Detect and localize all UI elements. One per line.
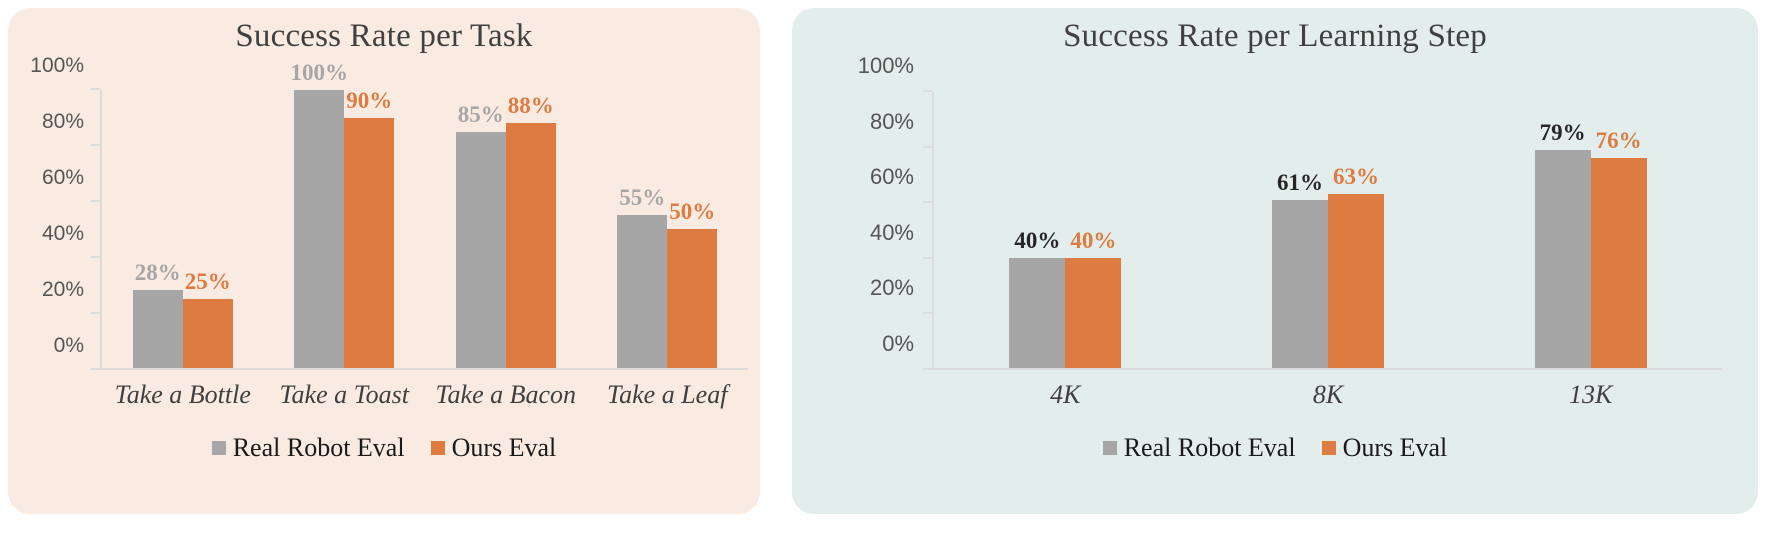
y-axis-tick bbox=[923, 312, 932, 314]
page-title: Success Rate per Task bbox=[8, 18, 760, 55]
bar-value-label: 40% bbox=[1070, 228, 1116, 254]
bar-pair: 40%40% bbox=[1009, 92, 1121, 368]
bar-value-label: 85% bbox=[458, 102, 504, 128]
y-axis-tick bbox=[923, 146, 932, 148]
x-axis-category-label: Take a Bacon bbox=[425, 380, 587, 410]
y-axis-tick-label: 40% bbox=[42, 222, 84, 246]
bar-real-robot-eval[interactable]: 55% bbox=[617, 215, 667, 368]
bar-value-label: 28% bbox=[135, 260, 181, 286]
x-axis-category-label: Take a Toast bbox=[264, 380, 426, 410]
bar-group: 79%76% bbox=[1459, 92, 1722, 368]
chart-panel-task: Success Rate per Task 0%20%40%60%80%100%… bbox=[8, 8, 760, 514]
x-axis-category-labels: 4K8K13K bbox=[934, 380, 1722, 410]
y-axis-tick-label: 80% bbox=[42, 110, 84, 134]
legend-label: Ours Eval bbox=[1343, 433, 1448, 463]
bar-pair: 85%88% bbox=[456, 90, 556, 368]
legend-swatch-icon bbox=[431, 441, 445, 455]
legend: Real Robot Eval Ours Eval bbox=[8, 433, 760, 463]
bar-ours-eval[interactable]: 76% bbox=[1591, 158, 1647, 368]
x-axis-category-label: Take a Leaf bbox=[587, 380, 749, 410]
y-axis-tick-label: 80% bbox=[870, 109, 914, 135]
x-axis-category-label: 8K bbox=[1197, 380, 1460, 410]
y-axis-tick-label: 60% bbox=[870, 164, 914, 190]
y-axis-tick bbox=[91, 200, 100, 202]
figure-root: Success Rate per Task 0%20%40%60%80%100%… bbox=[0, 0, 1774, 550]
legend: Real Robot Eval Ours Eval bbox=[792, 433, 1758, 463]
bar-ours-eval[interactable]: 88% bbox=[506, 123, 556, 368]
y-axis-tick-label: 0% bbox=[882, 331, 914, 357]
y-axis-tick bbox=[923, 257, 932, 259]
bar-value-label: 55% bbox=[619, 185, 665, 211]
y-axis-tick-label: 20% bbox=[870, 275, 914, 301]
bar-value-label: 50% bbox=[669, 199, 715, 225]
bar-value-label: 76% bbox=[1596, 128, 1642, 154]
bar-value-label: 40% bbox=[1014, 228, 1060, 254]
bar-group: 100%90% bbox=[264, 90, 426, 368]
bar-group: 85%88% bbox=[425, 90, 587, 368]
bar-pair: 100%90% bbox=[294, 90, 394, 368]
y-axis-tick bbox=[91, 256, 100, 258]
bar-value-label: 100% bbox=[291, 60, 349, 86]
bar-pair: 28%25% bbox=[133, 90, 233, 368]
legend-label: Real Robot Eval bbox=[233, 433, 405, 463]
bar-real-robot-eval[interactable]: 79% bbox=[1535, 150, 1591, 368]
bar-group: 61%63% bbox=[1197, 92, 1460, 368]
bar-value-label: 90% bbox=[346, 88, 392, 114]
bar-groups: 40%40%61%63%79%76% bbox=[934, 92, 1722, 368]
legend-swatch-icon bbox=[1322, 441, 1336, 455]
bar-value-label: 63% bbox=[1333, 164, 1379, 190]
bar-real-robot-eval[interactable]: 100% bbox=[294, 90, 344, 368]
bar-ours-eval[interactable]: 25% bbox=[183, 299, 233, 369]
bar-groups: 28%25%100%90%85%88%55%50% bbox=[102, 90, 748, 368]
x-axis-category-label: 4K bbox=[934, 380, 1197, 410]
y-axis-tick bbox=[923, 201, 932, 203]
bar-ours-eval[interactable]: 63% bbox=[1328, 194, 1384, 368]
x-axis-category-label: 13K bbox=[1459, 380, 1722, 410]
x-axis-line bbox=[100, 368, 748, 370]
plot-area-task: 0%20%40%60%80%100% 28%25%100%90%85%88%55… bbox=[100, 90, 748, 370]
bar-value-label: 88% bbox=[508, 93, 554, 119]
y-axis-tick-label: 60% bbox=[42, 166, 84, 190]
bar-ours-eval[interactable]: 50% bbox=[667, 229, 717, 368]
y-axis-tick bbox=[91, 312, 100, 314]
bar-real-robot-eval[interactable]: 28% bbox=[133, 290, 183, 368]
bar-ours-eval[interactable]: 90% bbox=[344, 118, 394, 368]
bar-value-label: 61% bbox=[1277, 170, 1323, 196]
x-axis-line bbox=[932, 368, 1722, 370]
bar-value-label: 79% bbox=[1540, 120, 1586, 146]
y-axis-tick-label: 0% bbox=[54, 334, 84, 358]
y-axis-tick-label: 100% bbox=[858, 53, 914, 79]
y-axis-tick bbox=[91, 88, 100, 90]
y-axis-tick-label: 20% bbox=[42, 278, 84, 302]
bar-real-robot-eval[interactable]: 85% bbox=[456, 132, 506, 368]
legend-swatch-icon bbox=[212, 441, 226, 455]
legend-swatch-icon bbox=[1103, 441, 1117, 455]
x-axis-category-label: Take a Bottle bbox=[102, 380, 264, 410]
bar-group: 28%25% bbox=[102, 90, 264, 368]
bar-group: 55%50% bbox=[587, 90, 749, 368]
y-axis-tick bbox=[923, 90, 932, 92]
y-axis-tick bbox=[923, 368, 932, 370]
plot-area-learning-step: 0%20%40%60%80%100% 40%40%61%63%79%76% bbox=[932, 92, 1722, 370]
legend-label: Ours Eval bbox=[452, 433, 557, 463]
legend-item-ours-eval: Ours Eval bbox=[431, 433, 557, 463]
bar-pair: 79%76% bbox=[1535, 92, 1647, 368]
y-axis-tick bbox=[91, 368, 100, 370]
bar-real-robot-eval[interactable]: 40% bbox=[1009, 258, 1065, 368]
bar-real-robot-eval[interactable]: 61% bbox=[1272, 200, 1328, 368]
bar-group: 40%40% bbox=[934, 92, 1197, 368]
bar-value-label: 25% bbox=[185, 269, 231, 295]
legend-item-real-robot-eval: Real Robot Eval bbox=[212, 433, 405, 463]
legend-label: Real Robot Eval bbox=[1124, 433, 1296, 463]
x-axis-category-labels: Take a BottleTake a ToastTake a BaconTak… bbox=[102, 380, 748, 410]
y-axis-tick bbox=[91, 144, 100, 146]
chart-panel-learning-step: Success Rate per Learning Step 0%20%40%6… bbox=[792, 8, 1758, 514]
y-axis-tick-label: 100% bbox=[30, 54, 84, 78]
legend-item-real-robot-eval: Real Robot Eval bbox=[1103, 433, 1296, 463]
bar-ours-eval[interactable]: 40% bbox=[1065, 258, 1121, 368]
page-title: Success Rate per Learning Step bbox=[792, 18, 1758, 55]
bar-pair: 55%50% bbox=[617, 90, 717, 368]
y-axis-tick-label: 40% bbox=[870, 220, 914, 246]
legend-item-ours-eval: Ours Eval bbox=[1322, 433, 1448, 463]
bar-pair: 61%63% bbox=[1272, 92, 1384, 368]
